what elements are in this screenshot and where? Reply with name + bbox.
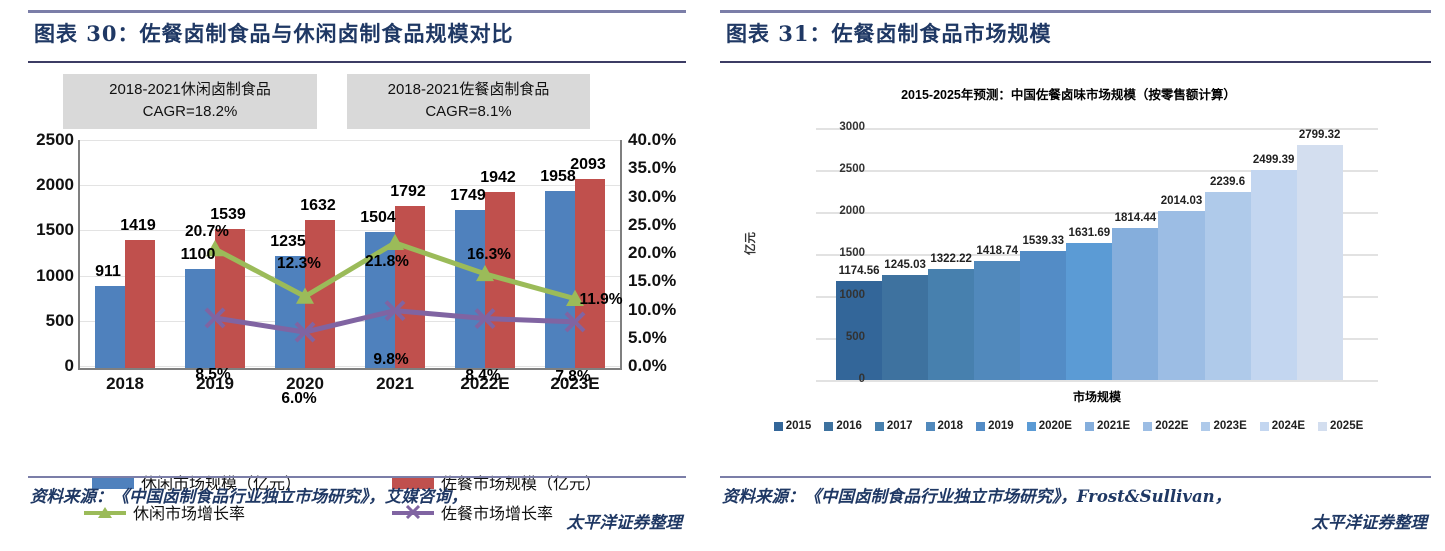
annotation-line-1: 2018-2021休闲卤制食品: [63, 79, 317, 101]
bar: [1066, 243, 1112, 380]
bar-value-label: 2093: [561, 156, 615, 174]
x-tick-label: 2018: [80, 374, 170, 394]
legend-swatch-icon: [774, 422, 783, 431]
left-chart-area: 2018-2021休闲卤制食品 CAGR=18.2% 2018-2021佐餐卤制…: [14, 66, 686, 466]
bar-value-label: 1631.69: [1054, 227, 1124, 239]
y-tick-label: 0: [14, 356, 74, 376]
right-x-axis-title: 市场规模: [816, 388, 1378, 405]
legend-swatch-icon: [1027, 422, 1036, 431]
marker-triangle-icon: [386, 234, 404, 250]
right-chart-subtitle: 2015-2025年预测：中国佐餐卤味市场规模（按零售额计算）: [706, 84, 1431, 103]
y-tick-label: 1500: [14, 220, 74, 240]
legend-item[interactable]: 2015: [774, 420, 812, 432]
y-tick-label: 1000: [805, 289, 865, 301]
page-title-left: 图表 30：佐餐卤制食品与休闲卤制食品规模对比: [34, 18, 514, 48]
y-tick-label-secondary: 30.0%: [628, 187, 698, 207]
annotation-line-2: CAGR=8.1%: [347, 101, 590, 123]
legend-swatch-icon: [1260, 422, 1269, 431]
legend-swatch-icon: [1318, 422, 1327, 431]
right-legend: 201520162017201820192020E2021E2022E2023E…: [706, 420, 1431, 432]
y-tick-label: 0: [805, 373, 865, 385]
bar: [1297, 145, 1343, 380]
panel-footer-rule: [720, 476, 1431, 478]
source-line-2: 太平洋证券整理: [722, 510, 1427, 536]
bar: [1251, 170, 1297, 380]
legend-label: 2016: [836, 420, 862, 432]
y-tick-label-secondary: 40.0%: [628, 130, 698, 150]
legend-label: 2019: [988, 420, 1014, 432]
bar-value-label: 1942: [471, 169, 525, 187]
bar: [1158, 211, 1204, 380]
y-tick-label-secondary: 25.0%: [628, 215, 698, 235]
y-tick-label: 3000: [805, 121, 865, 133]
line-value-label: 21.8%: [353, 253, 421, 271]
y-tick-label: 500: [805, 331, 865, 343]
line-value-label: 8.4%: [449, 367, 517, 385]
legend-item[interactable]: 2018: [926, 420, 964, 432]
legend-label: 2021E: [1097, 420, 1130, 432]
bar-value-label: 2014.03: [1146, 195, 1216, 207]
legend-label: 2024E: [1272, 420, 1305, 432]
bar-value-label: 911: [81, 263, 135, 281]
legend-item[interactable]: 2017: [875, 420, 913, 432]
y-tick-label: 1500: [805, 247, 865, 259]
annotation-line-1: 2018-2021佐餐卤制食品: [347, 79, 590, 101]
legend-label: 2022E: [1155, 420, 1188, 432]
legend-swatch-icon: [824, 422, 833, 431]
chart-panel-right: 图表 31：佐餐卤制食品市场规模 2015-2025年预测：中国佐餐卤味市场规模…: [706, 0, 1431, 551]
legend-swatch-icon: [875, 422, 884, 431]
legend-label: 2018: [938, 420, 964, 432]
legend-swatch-icon: [926, 422, 935, 431]
bar: [1205, 192, 1251, 380]
annotation-box-meal-cagr: 2018-2021佐餐卤制食品 CAGR=8.1%: [347, 74, 590, 129]
panel-title-rule: [720, 61, 1431, 63]
source-line-2: 太平洋证券整理: [30, 510, 682, 536]
y-tick-label: 500: [14, 311, 74, 331]
legend-label: 2017: [887, 420, 913, 432]
panel-title-rule: [28, 61, 686, 63]
y-tick-label-secondary: 10.0%: [628, 300, 698, 320]
chart-panel-left: 图表 30：佐餐卤制食品与休闲卤制食品规模对比 2018-2021休闲卤制食品 …: [14, 0, 686, 551]
bar-value-label: 1100: [171, 246, 225, 264]
line-value-label: 16.3%: [455, 246, 523, 264]
legend-swatch-icon: [1085, 422, 1094, 431]
source-note-right: 资料来源：《中国卤制食品行业独立市场研究》，Frost&Sullivan， 太平…: [722, 484, 1427, 535]
bar-value-label: 1419: [111, 217, 165, 235]
legend-item[interactable]: 2021E: [1085, 420, 1130, 432]
y-tick-label: 1000: [14, 266, 74, 286]
y-tick-label-secondary: 15.0%: [628, 271, 698, 291]
panel-top-rule: [28, 10, 686, 13]
y-tick-label: 2000: [805, 205, 865, 217]
legend-item[interactable]: 2016: [824, 420, 862, 432]
bar: [974, 261, 1020, 380]
line-value-label: 20.7%: [173, 223, 241, 241]
y-tick-label: 2000: [14, 175, 74, 195]
legend-item[interactable]: 2020E: [1027, 420, 1072, 432]
y-tick-label-secondary: 5.0%: [628, 328, 698, 348]
bar-value-label: 1749: [441, 187, 495, 205]
bar-value-label: 1539: [201, 206, 255, 224]
bar-value-label: 2499.39: [1239, 154, 1309, 166]
right-y-axis-title: 亿元: [742, 232, 758, 255]
bar: [928, 269, 974, 380]
x-tick-label: 2021: [350, 374, 440, 394]
page-title-right: 图表 31：佐餐卤制食品市场规模: [726, 18, 1052, 48]
legend-label: 2020E: [1039, 420, 1072, 432]
line-value-label: 7.8%: [539, 368, 607, 386]
gridline: [816, 380, 1378, 382]
legend-item[interactable]: 2025E: [1318, 420, 1363, 432]
bar-value-label: 1235: [261, 233, 315, 251]
report-page: 图表 30：佐餐卤制食品与休闲卤制食品规模对比 2018-2021休闲卤制食品 …: [0, 0, 1445, 551]
bar: [882, 275, 928, 380]
bar-value-label: 1814.44: [1100, 212, 1170, 224]
bar: [1020, 251, 1066, 380]
y-tick-label-secondary: 35.0%: [628, 158, 698, 178]
legend-item[interactable]: 2019: [976, 420, 1014, 432]
annotation-line-2: CAGR=18.2%: [63, 101, 317, 123]
line-value-label: 9.8%: [357, 351, 425, 369]
bar-value-label: 2239.6: [1193, 176, 1263, 188]
line-value-label: 6.0%: [265, 390, 333, 408]
legend-swatch-icon: [1201, 422, 1210, 431]
legend-item[interactable]: 2024E: [1260, 420, 1305, 432]
legend-label: 2025E: [1330, 420, 1363, 432]
line-value-label: 8.5%: [179, 366, 247, 384]
bar-value-label: 2799.32: [1285, 129, 1355, 141]
bar-value-label: 1792: [381, 183, 435, 201]
y-tick-label: 2500: [14, 130, 74, 150]
line-value-label: 11.9%: [567, 291, 635, 309]
bar: [1112, 228, 1158, 380]
bar-value-label: 1504: [351, 209, 405, 227]
legend-item[interactable]: 2023E: [1201, 420, 1246, 432]
bar-value-label: 1632: [291, 197, 345, 215]
y-tick-label-secondary: 0.0%: [628, 356, 698, 376]
legend-label: 2015: [786, 420, 812, 432]
annotation-box-leisure-cagr: 2018-2021休闲卤制食品 CAGR=18.2%: [63, 74, 317, 129]
y-tick-label: 2500: [805, 163, 865, 175]
line-series: [215, 311, 575, 332]
legend-label: 2023E: [1213, 420, 1246, 432]
panel-footer-rule: [28, 476, 686, 478]
panel-top-rule: [720, 10, 1431, 13]
line-value-label: 12.3%: [265, 255, 333, 273]
source-line-1: 资料来源：《中国卤制食品行业独立市场研究》，艾媒咨询，: [30, 487, 467, 506]
source-note-left: 资料来源：《中国卤制食品行业独立市场研究》，艾媒咨询， 太平洋证券整理: [30, 484, 682, 535]
source-line-1: 资料来源：《中国卤制食品行业独立市场研究》，Frost&Sullivan，: [722, 487, 1231, 506]
legend-swatch-icon: [976, 422, 985, 431]
y-tick-label-secondary: 20.0%: [628, 243, 698, 263]
legend-swatch-icon: [1143, 422, 1152, 431]
legend-item[interactable]: 2022E: [1143, 420, 1188, 432]
